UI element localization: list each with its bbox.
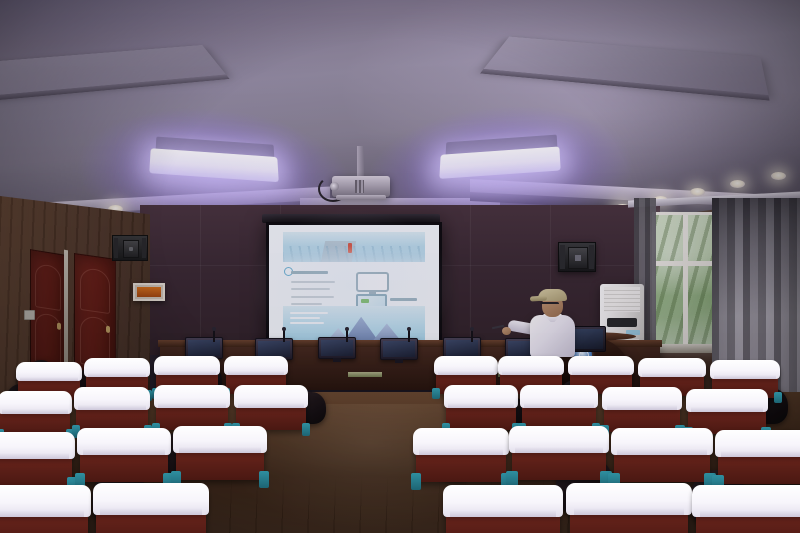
auditorium-seat[interactable] xyxy=(614,434,710,482)
seat-cover xyxy=(444,385,518,407)
ceiling-light-left xyxy=(149,148,279,182)
auditorium-seat[interactable] xyxy=(0,492,88,533)
seat-cover xyxy=(568,356,634,375)
table-monitor-4 xyxy=(380,338,418,360)
wall-speaker-left xyxy=(112,235,148,261)
projector-base xyxy=(336,195,386,200)
table-microphone-2 xyxy=(283,330,285,342)
presenter xyxy=(512,286,590,356)
seat-cover xyxy=(434,356,498,375)
seat-cover xyxy=(443,485,564,516)
auditorium-seat[interactable] xyxy=(416,434,506,482)
seat-cover xyxy=(602,387,683,409)
auditorium-seat[interactable] xyxy=(446,390,516,430)
auditorium-seat[interactable] xyxy=(696,492,800,533)
presenter-hand xyxy=(502,327,511,335)
auditorium-seat[interactable] xyxy=(522,390,596,430)
slide-heading xyxy=(291,271,328,274)
auditorium-seat[interactable] xyxy=(236,390,306,430)
auditorium-seat[interactable] xyxy=(446,492,560,533)
seat-cover xyxy=(413,428,508,455)
auditorium-seat[interactable] xyxy=(156,390,228,430)
auditorium-seat[interactable] xyxy=(0,438,72,486)
seat-cover xyxy=(686,389,769,411)
auditorium-seat[interactable] xyxy=(512,432,606,480)
projection-screen xyxy=(266,222,442,352)
door-gap xyxy=(64,250,68,373)
presenter-cap xyxy=(538,289,567,301)
seat-cover xyxy=(638,358,706,377)
ceiling-projector xyxy=(332,176,390,197)
seat-cover xyxy=(77,428,170,455)
projector-lens xyxy=(330,182,339,191)
seat-cover xyxy=(520,385,598,407)
auditorium-seat[interactable] xyxy=(176,432,264,480)
seat-cover xyxy=(224,356,288,375)
downlight-2 xyxy=(690,188,705,196)
wall-speaker-right xyxy=(558,242,596,272)
auditorium-seat[interactable] xyxy=(80,434,168,482)
seat-cover xyxy=(154,385,230,407)
seat-cover xyxy=(154,356,220,375)
table-microphone-1 xyxy=(213,330,215,342)
auditorium-seat[interactable] xyxy=(0,396,70,436)
table-microphone-4 xyxy=(408,330,410,342)
auditorium-seat[interactable] xyxy=(718,436,800,484)
seat-cover xyxy=(16,362,82,381)
seat-cover xyxy=(498,356,564,375)
table-microphone-5 xyxy=(471,330,473,342)
light-switch[interactable] xyxy=(24,310,35,320)
presenter-glasses xyxy=(540,302,559,308)
seat-cover xyxy=(710,360,780,379)
seat-cover xyxy=(234,385,308,407)
seat-cover xyxy=(93,483,210,514)
ceiling-light-right xyxy=(439,146,560,178)
downlight-3 xyxy=(730,180,745,188)
seat-post xyxy=(302,423,310,437)
lecture-hall-photo xyxy=(0,0,800,533)
seat-cover xyxy=(0,391,72,413)
seat-post xyxy=(259,471,270,487)
auditorium-seat[interactable] xyxy=(76,392,148,432)
projector-mount-pole xyxy=(357,146,364,180)
framed-picture xyxy=(133,283,165,301)
slide-banner-text xyxy=(290,312,333,327)
seat-cover xyxy=(0,485,91,516)
auditorium-seat[interactable] xyxy=(570,490,688,533)
presentation-slide xyxy=(269,225,439,349)
seat-cover xyxy=(566,483,691,514)
seat-post xyxy=(411,473,422,489)
seat-cover xyxy=(74,387,150,409)
downlight-4 xyxy=(771,172,786,180)
auditorium-seat[interactable] xyxy=(96,490,206,533)
slide-monitor-icon xyxy=(356,272,389,292)
seat-cover xyxy=(611,428,713,455)
seat-cover xyxy=(84,358,150,377)
desk-light-left xyxy=(348,372,382,377)
seat-cover xyxy=(173,426,266,453)
ac-grille xyxy=(604,287,641,312)
door-left[interactable] xyxy=(30,249,66,375)
table-microphone-3 xyxy=(346,330,348,342)
seat-cover xyxy=(692,485,800,516)
seat-post xyxy=(432,388,439,400)
ac-display[interactable] xyxy=(607,318,637,327)
table-monitor-3 xyxy=(318,337,356,359)
seat-cover xyxy=(0,432,75,459)
seat-cover xyxy=(509,426,609,453)
window xyxy=(652,212,720,353)
seat-post xyxy=(774,392,782,404)
auditorium-seat[interactable] xyxy=(604,392,680,432)
slide-hero-image xyxy=(283,232,426,262)
seat-cover xyxy=(715,430,800,457)
slide-subheading xyxy=(390,298,417,301)
